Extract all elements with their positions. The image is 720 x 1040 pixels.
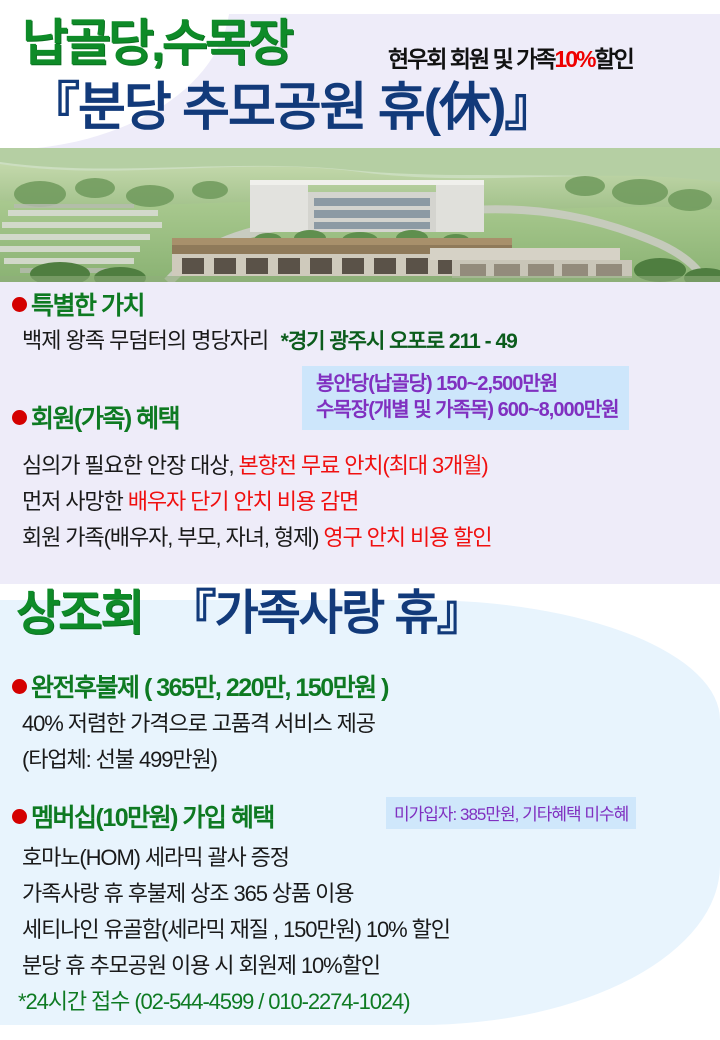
address-text: *경기 광주시 오포로 211 - 49 [281, 330, 517, 353]
bullet-dot-icon [12, 679, 27, 694]
block-heading-special-value: 특별한 가치 [12, 286, 144, 322]
membership-line-4: 분당 휴 추모공원 이용 시 회원제 10%할인 [22, 950, 380, 982]
block-heading-label: 멤버십(10만원) 가입 혜택 [31, 798, 274, 834]
benefit-line-3-accent: 영구 안치 비용 할인 [323, 525, 491, 550]
memorial-park-photo-graphic [0, 148, 720, 282]
membership-line-2: 가족사랑 휴 후불제 상조 365 상품 이용 [22, 878, 353, 910]
postpaid-line-2: (타업체: 선불 499만원) [22, 744, 217, 776]
block-heading-full-postpaid: 완전후불제 ( 365만, 220만, 150만원 ) [12, 668, 388, 704]
benefit-line-1: 심의가 필요한 안장 대상, 본향전 무료 안치(최대 3개월) [22, 450, 488, 482]
benefit-line-1-plain: 심의가 필요한 안장 대상, [22, 453, 238, 478]
price-line-columbarium: 봉안당(납골당) 150~2,500만원 [316, 371, 619, 397]
block-heading-label: 회원(가족) 혜택 [31, 399, 179, 435]
price-line-tree-burial: 수목장(개별 및 가족목) 600~8,000만원 [316, 397, 619, 423]
discount-note: 현우회 회원 및 가족10%할인 [388, 40, 633, 74]
discount-note-percent: 10% [554, 46, 594, 72]
block-heading-label: 완전후불제 ( 365만, 220만, 150만원 ) [31, 668, 388, 704]
memorial-park-photo [0, 148, 720, 282]
benefit-line-2: 먼저 사망한 배우자 단기 안치 비용 감면 [22, 486, 358, 518]
bullet-dot-icon [12, 410, 27, 425]
discount-note-suffix: 할인 [595, 46, 633, 72]
benefit-line-2-plain: 먼저 사망한 [22, 489, 128, 514]
block-heading-member-benefit: 회원(가족) 혜택 [12, 399, 179, 435]
header: 납골당,수목장 현우회 회원 및 가족10%할인 『분당 추모공원 휴(休)』 [0, 0, 720, 148]
section2-title-green: 상조회 [16, 587, 142, 640]
contact-line[interactable]: *24시간 접수 (02-544-4599 / 010-2274-1024) [18, 986, 409, 1018]
page-title-secondary: 『분당 추모공원 휴(休)』 [28, 82, 554, 134]
membership-line-1: 호마노(HOM) 세라믹 괄사 증정 [22, 842, 289, 874]
benefit-line-3: 회원 가족(배우자, 부모, 자녀, 형제) 영구 안치 비용 할인 [22, 522, 492, 554]
price-box: 봉안당(납골당) 150~2,500만원 수목장(개별 및 가족목) 600~8… [302, 366, 629, 430]
discount-note-prefix: 현우회 회원 및 가족 [388, 46, 554, 72]
section2-title-navy: 『가족사랑 휴』 [168, 587, 482, 640]
block-heading-label: 특별한 가치 [31, 286, 144, 322]
membership-line-3: 세티나인 유골함(세라믹 재질 , 150만원) 10% 할인 [22, 914, 450, 946]
bullet-dot-icon [12, 809, 27, 824]
section2-title: 상조회『가족사랑 휴』 [16, 590, 483, 638]
benefit-line-3-plain: 회원 가족(배우자, 부모, 자녀, 형제) [22, 525, 323, 550]
page-title-primary: 납골당,수목장 [22, 18, 291, 68]
block-heading-membership: 멤버십(10만원) 가입 혜택 [12, 798, 274, 834]
bullet-dot-icon [12, 297, 27, 312]
special-value-row: 백제 왕족 무덤터의 명당자리 *경기 광주시 오포로 211 - 49 [22, 323, 517, 355]
flyer-page: 납골당,수목장 현우회 회원 및 가족10%할인 『분당 추모공원 휴(休)』 [0, 0, 720, 1040]
benefit-line-2-accent: 배우자 단기 안치 비용 감면 [128, 489, 359, 514]
special-value-text: 백제 왕족 무덤터의 명당자리 [22, 328, 268, 353]
membership-note-badge: 미가입자: 385만원, 기타혜택 미수혜 [386, 797, 636, 829]
postpaid-line-1: 40% 저렴한 가격으로 고품격 서비스 제공 [22, 708, 375, 740]
benefit-line-1-accent: 본향전 무료 안치(최대 3개월) [238, 453, 487, 478]
